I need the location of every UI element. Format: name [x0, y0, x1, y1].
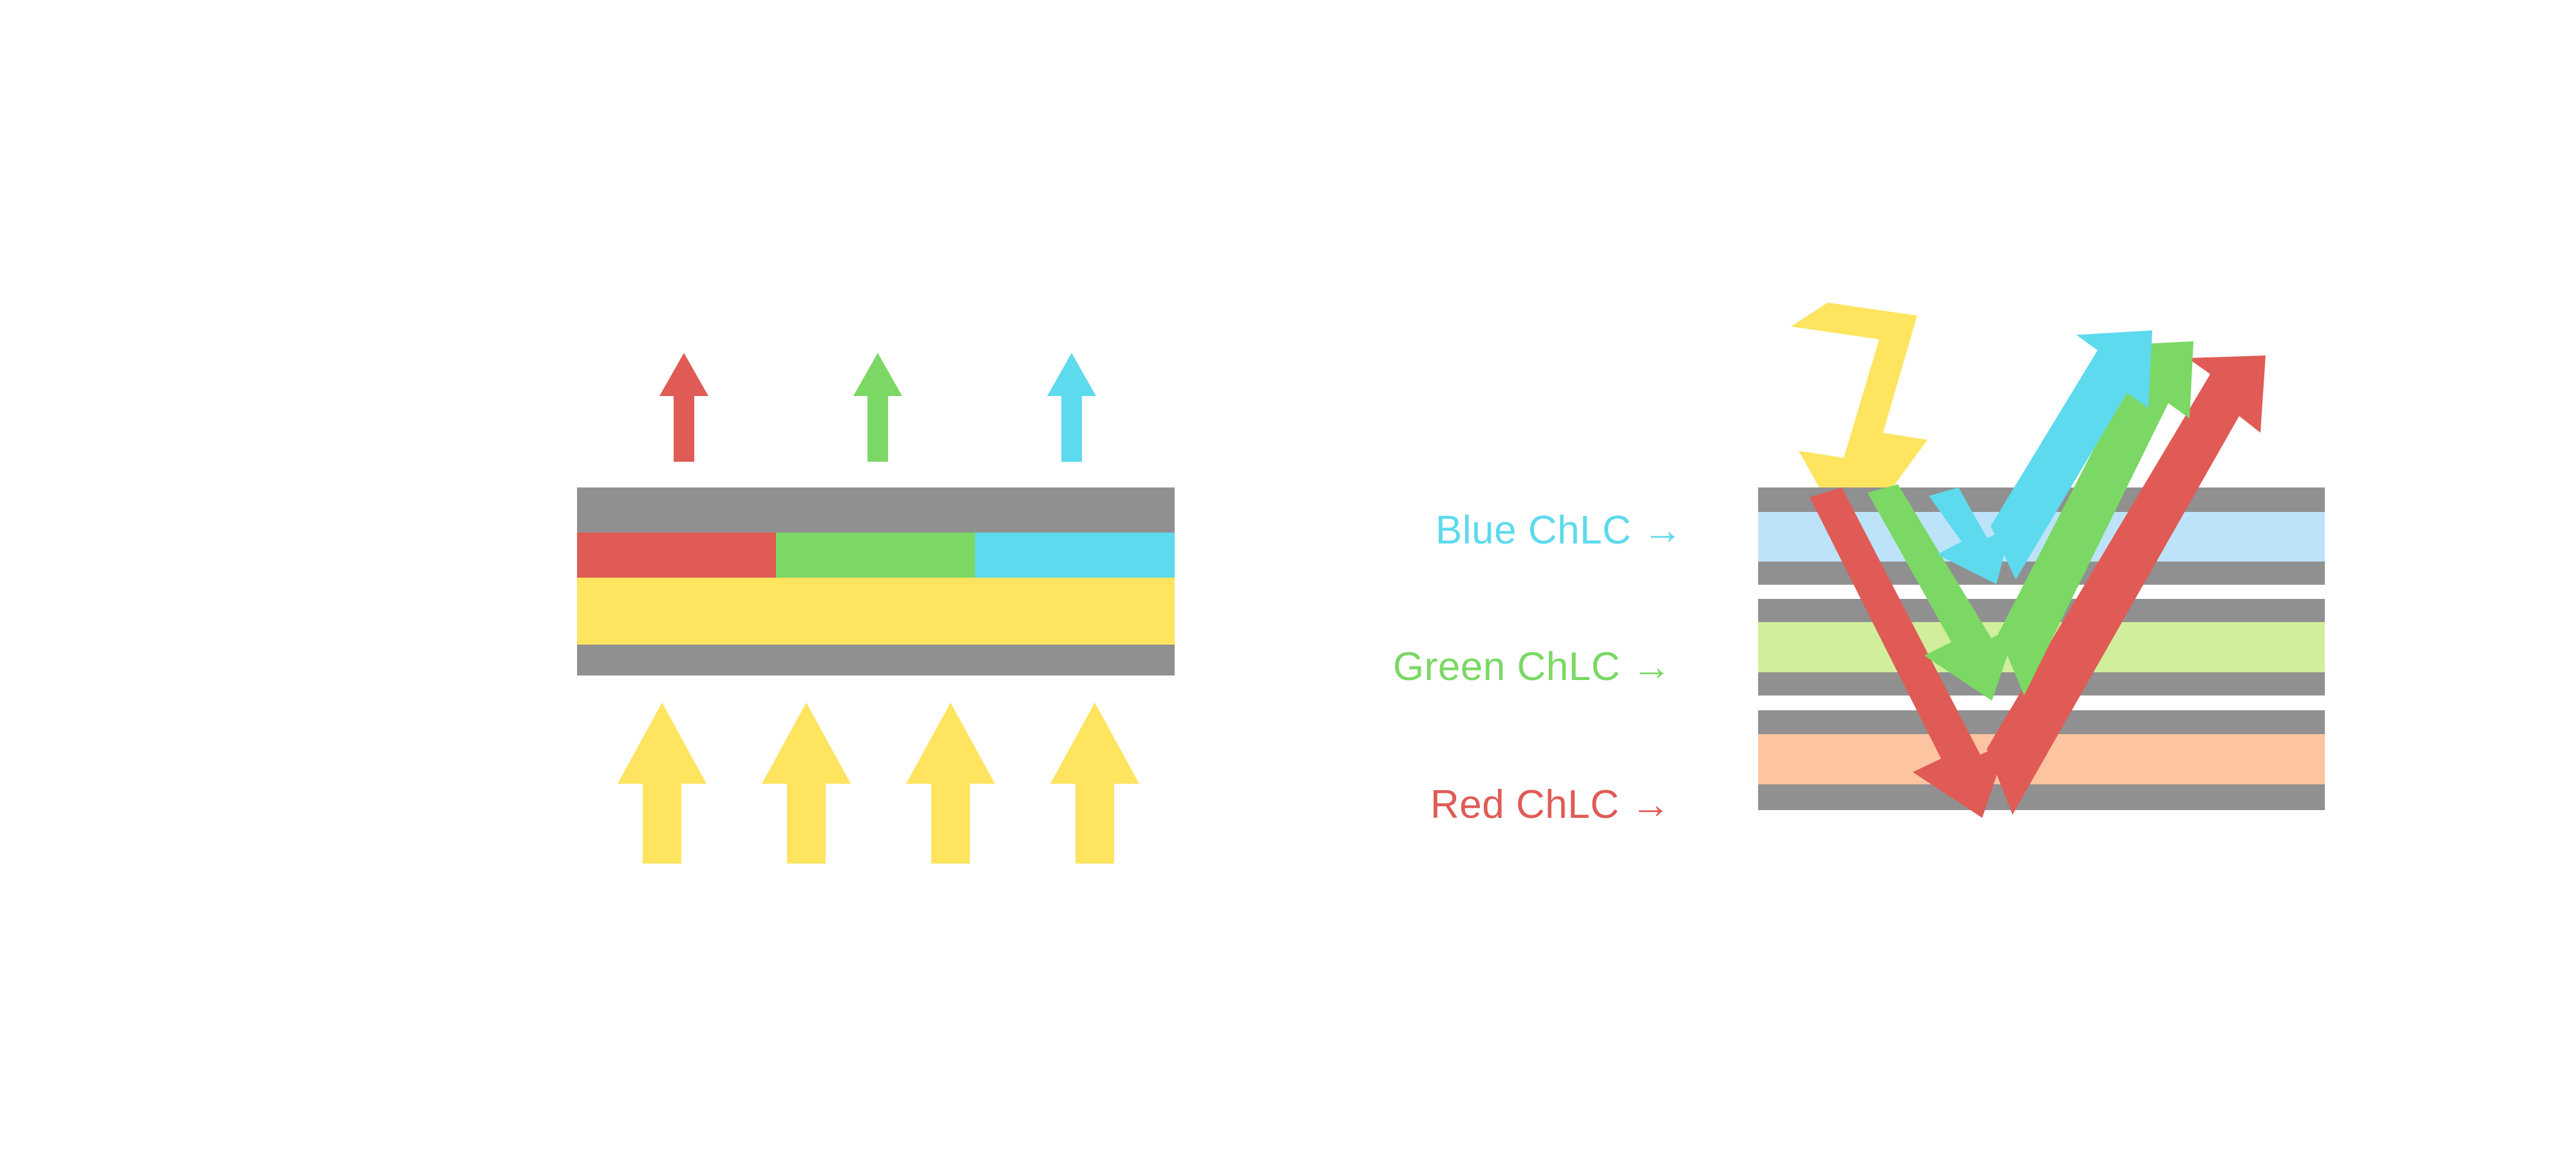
emitted-light-arrows — [659, 353, 1096, 462]
blue-filter-segment — [975, 533, 1175, 578]
backlight-arrow — [1050, 703, 1139, 864]
top-electrode-layer — [577, 487, 1175, 533]
backlight-arrow — [618, 703, 706, 864]
backlight-layer — [577, 578, 1175, 645]
label-green-chlc: Green ChLC → — [1393, 647, 1672, 687]
green-filter-segment — [776, 533, 975, 578]
red-cell-bottom-electrode — [1758, 784, 2325, 810]
bottom-electrode-layer — [577, 645, 1175, 676]
backlight-arrows — [618, 703, 1139, 864]
left-panel — [577, 353, 1175, 864]
right-panel — [1758, 303, 2325, 818]
label-red-chlc: Red ChLC → — [1430, 785, 1671, 825]
label-blue-chlc: Blue ChLC → — [1435, 511, 1683, 551]
backlight-arrow — [762, 703, 851, 864]
left-stack — [577, 487, 1175, 676]
red-filter-segment — [577, 533, 776, 578]
diagram-canvas — [0, 0, 2576, 1154]
green-emission-arrow — [853, 353, 902, 462]
cyan-emission-arrow — [1047, 353, 1096, 462]
backlight-arrow — [906, 703, 995, 864]
red-emission-arrow — [659, 353, 708, 462]
